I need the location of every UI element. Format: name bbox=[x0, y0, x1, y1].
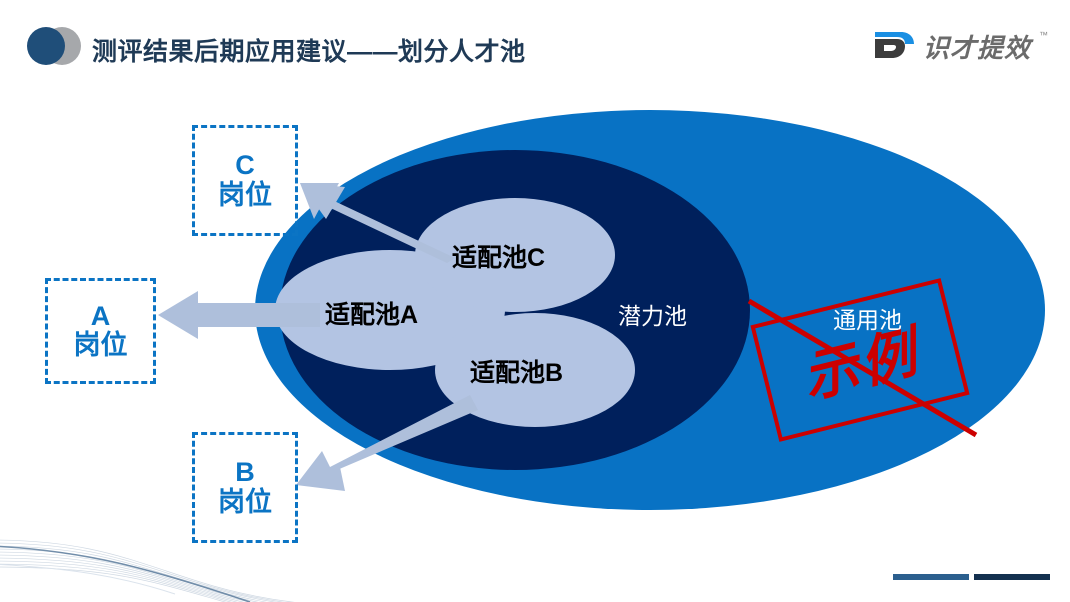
callout-a-letter: A bbox=[91, 302, 111, 331]
overlapping-circles-logo bbox=[24, 24, 86, 68]
callout-box-c[interactable]: C 岗位 bbox=[192, 125, 298, 236]
callout-c-letter: C bbox=[235, 151, 255, 180]
footer-wave-decoration bbox=[0, 512, 420, 602]
trademark-symbol: ™ bbox=[1039, 30, 1048, 40]
callout-b-letter: B bbox=[235, 458, 255, 487]
slide-canvas: 测评结果后期应用建议——划分人才池 识才提效 ™ bbox=[0, 0, 1070, 602]
footer-bar-1 bbox=[893, 574, 969, 580]
talent-pool-diagram: 适配池C 适配池A 适配池B 潜力池 通用池 示例 bbox=[0, 95, 1070, 525]
footer-bar-2 bbox=[974, 574, 1050, 580]
callout-c-role: 岗位 bbox=[218, 181, 272, 210]
footer-bars bbox=[893, 574, 1050, 580]
brand-mark: 识才提效 ™ bbox=[871, 24, 1048, 68]
d-mark-icon bbox=[871, 24, 915, 69]
page-title: 测评结果后期应用建议——划分人才池 bbox=[92, 32, 526, 68]
callout-box-a[interactable]: A 岗位 bbox=[45, 278, 156, 384]
brand-name: 识才提效 bbox=[923, 28, 1031, 65]
callout-a-role: 岗位 bbox=[74, 331, 128, 360]
